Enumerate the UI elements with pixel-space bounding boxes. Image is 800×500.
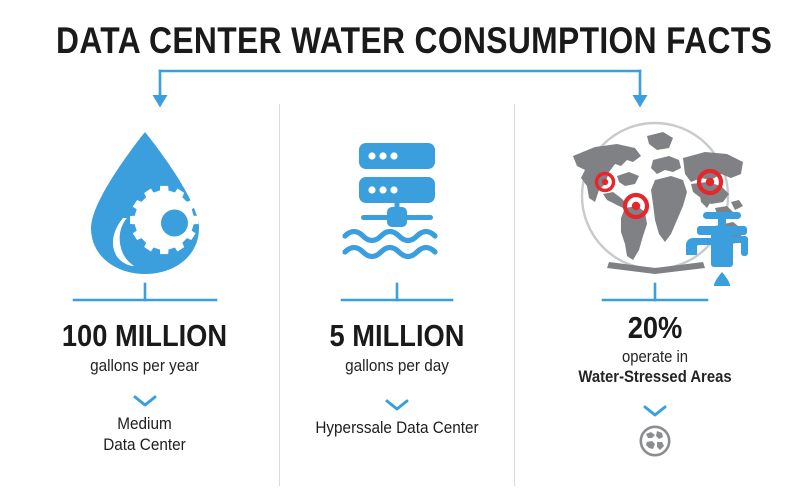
server-water-icon-box [292, 120, 502, 282]
stat-number: 20% [536, 312, 774, 344]
column-medium-data-center: 100 MILLION gallons per year Medium Data… [22, 120, 267, 455]
arrow-down-right-icon [633, 95, 648, 108]
faucet-icon [686, 212, 748, 286]
globe-faucet-icon [555, 116, 755, 286]
page-title: DATA CENTER WATER CONSUMPTION FACTS [56, 20, 744, 62]
stat-number: 5 MILLION [305, 320, 490, 352]
chevron-down-icon [384, 398, 410, 412]
stat-subtitle: operate in [534, 348, 777, 368]
stat-subtitle-secondary: Water-Stressed Areas [534, 368, 777, 388]
stat-connector-rule-1 [70, 282, 220, 304]
globe-faucet-icon-box [520, 120, 790, 282]
column-hyperscale-data-center: 5 MILLION gallons per day Hyperssale Dat… [292, 120, 502, 439]
infographic-root: DATA CENTER WATER CONSUMPTION FACTS [0, 0, 800, 500]
water-drop-gear-icon-box [22, 120, 267, 282]
caption-line: Medium [34, 414, 255, 435]
column-caption: Medium Data Center [34, 414, 255, 455]
stat-connector-rule-2 [338, 282, 456, 304]
stat-number: 100 MILLION [37, 320, 253, 352]
column-water-stressed-areas: 20% operate in Water-Stressed Areas [520, 120, 790, 458]
water-drop-gear-icon [79, 126, 211, 276]
column-caption: Hyperssale Data Center [303, 418, 492, 439]
column-divider-1 [279, 104, 280, 486]
stat-subtitle: gallons per year [34, 356, 255, 376]
caption-line: Data Center [34, 435, 255, 456]
column-divider-2 [514, 104, 515, 486]
stat-subtitle: gallons per day [303, 356, 492, 376]
server-water-icon [337, 137, 457, 265]
caption-line: Hyperssale Data Center [303, 418, 492, 439]
chevron-down-icon [132, 394, 158, 408]
bracket-connector [0, 62, 800, 117]
globe-icon [638, 424, 672, 458]
chevron-down-icon [642, 404, 668, 418]
arrow-down-left-icon [153, 95, 168, 108]
